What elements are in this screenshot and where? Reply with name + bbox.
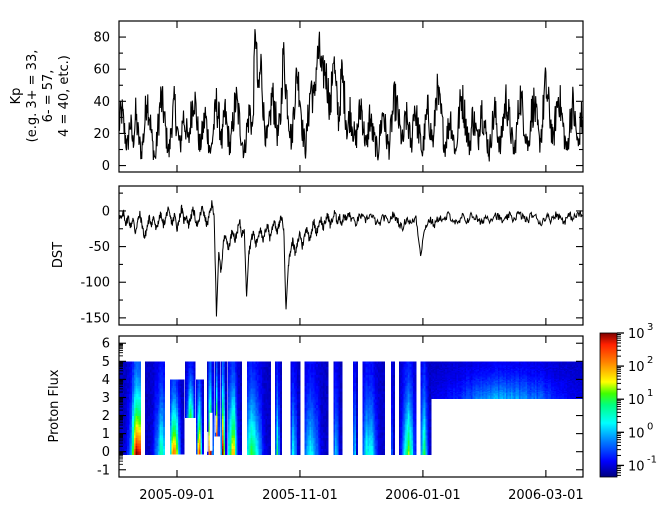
colorbar-gradient (600, 333, 617, 477)
flux-block (399, 361, 417, 455)
x-tick-label-3: 2006-03-01 (508, 488, 584, 503)
dst-axis-title: DST (51, 242, 66, 268)
flux-block (353, 361, 358, 455)
colorbar-tick-label-1: 10 (628, 360, 645, 375)
flux-block (196, 379, 204, 454)
flux-block (291, 361, 301, 455)
flux-block (145, 361, 165, 455)
kp-ytick-label-80: 80 (93, 31, 110, 46)
flux-data-gap (210, 413, 213, 451)
colorbar-tick-exponent-2: 1 (647, 388, 653, 399)
kp-label-line-3: 6- = 57, (41, 70, 56, 123)
flux-axis-title: Proton Flux (47, 369, 62, 442)
colorbar-tick-exponent-0: 3 (647, 322, 653, 333)
flux-ytick-label-2: 2 (102, 409, 110, 424)
x-tick-label-2: 2006-01-01 (385, 488, 461, 503)
colorbar-tick-label-3: 10 (628, 426, 645, 441)
flux-block (421, 361, 432, 455)
kp-label-line-4: 4 = 40, etc.) (57, 55, 72, 137)
colorbar-tick-label-4: 10 (628, 459, 645, 474)
flux-block (333, 361, 342, 455)
flux-ytick-label-5: 5 (102, 355, 110, 370)
colorbar-tick-label-2: 10 (628, 393, 645, 408)
flux-data-gap (207, 432, 208, 452)
colorbar-tick-exponent-3: 0 (647, 421, 653, 432)
flux-block (363, 361, 385, 455)
flux-ytick-label-4: 4 (102, 373, 110, 388)
flux-ytick-label-6: 6 (102, 337, 110, 352)
kp-ytick-label-20: 20 (93, 127, 110, 142)
flux-ytick-label-1: 1 (102, 427, 110, 442)
flux-block (247, 361, 271, 455)
kp-ytick-label-40: 40 (93, 95, 110, 110)
flux-data-gap (215, 416, 216, 433)
kp-label-line-1: Kp (9, 88, 24, 105)
dst-ytick-label-0: 0 (102, 204, 110, 219)
colorbar-tick-exponent-4: -1 (647, 454, 657, 465)
flux-block (221, 361, 228, 455)
flux-block (391, 361, 395, 455)
flux-block (305, 361, 329, 455)
colorbar-tick-label-0: 10 (628, 327, 645, 342)
dst-ytick-label--150: -150 (80, 311, 110, 326)
flux-ytick-label--1: -1 (97, 463, 110, 478)
dst-ytick-label--50: -50 (89, 240, 110, 255)
colorbar-tick-exponent-1: 2 (647, 355, 653, 366)
kp-ytick-label-60: 60 (93, 63, 110, 78)
flux-ytick-label-3: 3 (102, 391, 110, 406)
kp-ytick-label-0: 0 (102, 159, 110, 174)
x-tick-label-1: 2005-11-01 (262, 488, 338, 503)
figure-canvas: 020406080 Kp (e.g. 3+ = 33, 6- = 57, 4 =… (0, 0, 665, 523)
dst-ytick-label--100: -100 (80, 276, 110, 291)
flux-block (431, 361, 584, 399)
flux-block (275, 361, 282, 455)
kp-label-line-2: (e.g. 3+ = 33, (25, 50, 40, 143)
flux-block (170, 379, 185, 454)
multi-panel-plot: 020406080 Kp (e.g. 3+ = 33, 6- = 57, 4 =… (0, 0, 665, 523)
flux-block (228, 361, 242, 455)
x-tick-label-0: 2005-09-01 (139, 488, 215, 503)
flux-block (185, 361, 196, 418)
flux-ytick-label-0: 0 (102, 445, 110, 460)
